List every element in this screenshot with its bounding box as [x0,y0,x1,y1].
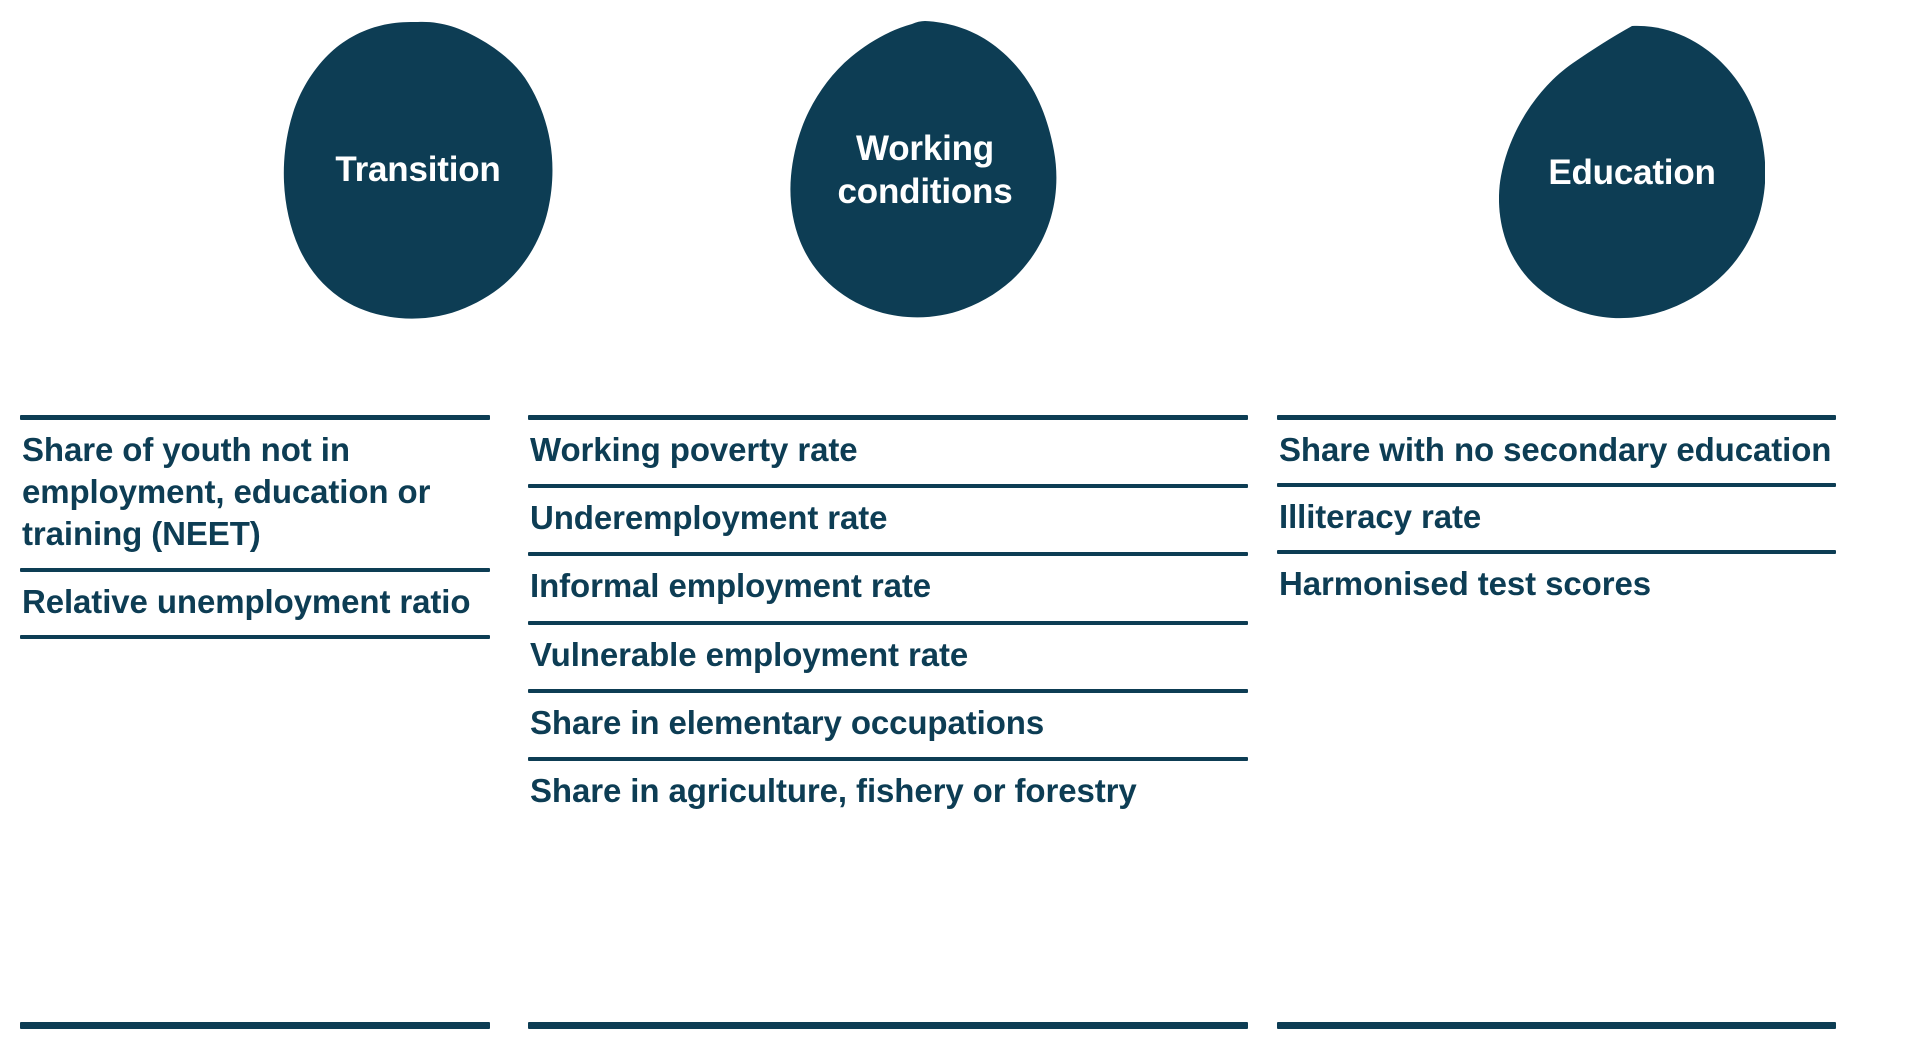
category-circle-education[interactable]: Education [1499,24,1765,322]
list-item[interactable]: Relative unemployment ratio [20,572,490,635]
indicator-list-transition: Share of youth not in employment, educat… [20,415,490,639]
list-item[interactable]: Harmonised test scores [1277,554,1836,617]
column-bottom-rule [528,1022,1248,1029]
indicator-category-board: Transition Share of youth not in employm… [0,0,1920,1057]
list-item[interactable]: Illiteracy rate [1277,487,1836,550]
indicator-list-working-conditions: Working poverty rate Underemployment rat… [528,415,1248,825]
list-divider-rule [20,635,490,639]
list-item[interactable]: Share in agriculture, fishery or forestr… [528,761,1248,825]
category-circle-label-transition: Transition [323,149,512,192]
circle-zone-transition: Transition [20,0,490,360]
category-circle-working-conditions[interactable]: Working conditions [790,20,1060,320]
list-item[interactable]: Informal employment rate [528,556,1248,620]
list-item[interactable]: Vulnerable employment rate [528,625,1248,689]
category-circle-label-working-conditions: Working conditions [826,127,1025,214]
indicator-list-education: Share with no secondary education Illite… [1277,415,1836,618]
category-circle-transition[interactable]: Transition [282,20,554,320]
list-item[interactable]: Share of youth not in employment, educat… [20,420,490,568]
list-item[interactable]: Share with no secondary education [1277,420,1836,483]
circle-zone-working-conditions: Working conditions [528,0,1248,360]
list-item[interactable]: Share in elementary occupations [528,693,1248,757]
list-item[interactable]: Underemployment rate [528,488,1248,552]
circle-zone-education: Education [1277,0,1836,360]
category-column-education: Education Share with no secondary educat… [1277,0,1836,1057]
category-column-working-conditions: Working conditions Working poverty rate … [528,0,1248,1057]
category-circle-label-education: Education [1536,152,1727,195]
category-column-transition: Transition Share of youth not in employm… [20,0,490,1057]
column-bottom-rule [1277,1022,1836,1029]
list-item[interactable]: Working poverty rate [528,420,1248,484]
column-bottom-rule [20,1022,490,1029]
